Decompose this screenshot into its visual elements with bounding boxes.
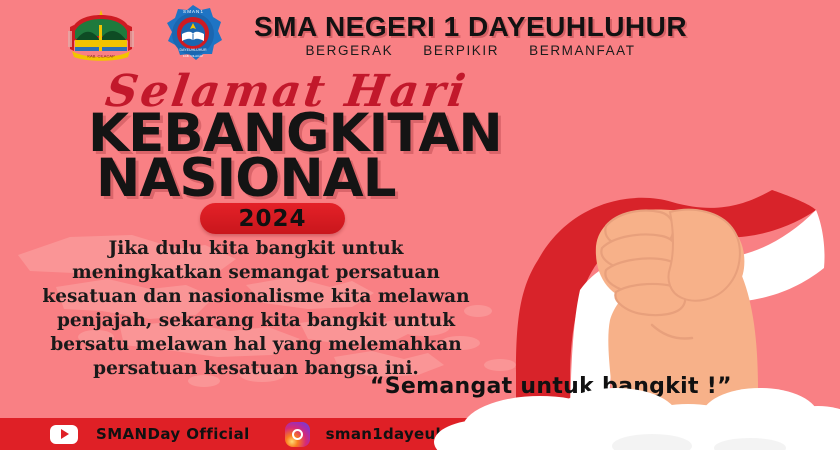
- year-label: 2024: [238, 206, 306, 232]
- tagline-word-1: BERGERAK: [305, 43, 393, 58]
- school-emblem: S M A N 1 DAYEUHLUHUR KAB. CILACAP: [162, 4, 224, 66]
- svg-text:S M A N 1: S M A N 1: [183, 9, 204, 14]
- svg-text:DAYEUHLUHUR: DAYEUHLUHUR: [179, 48, 206, 52]
- tagline-word-3: BERMANFAAT: [529, 43, 636, 58]
- year-badge: 2024: [200, 203, 345, 234]
- svg-text:KAB. CILACAP: KAB. CILACAP: [87, 54, 115, 59]
- headline-line-2: NASIONAL: [96, 148, 395, 209]
- youtube-icon[interactable]: [50, 425, 78, 444]
- youtube-handle[interactable]: SMANDay Official: [96, 425, 250, 443]
- poster-header: KAB. CILACAP S M A N 1 DAYEUHLUHUR KAB. …: [0, 4, 840, 66]
- school-identity: SMA NEGERI 1 DAYEUHLUHUR BERGERAKBERPIKI…: [254, 12, 687, 58]
- tagline-word-2: BERPIKIR: [423, 43, 499, 58]
- play-triangle-icon: [61, 429, 69, 439]
- poster-canvas: KAB. CILACAP S M A N 1 DAYEUHLUHUR KAB. …: [0, 0, 840, 450]
- svg-text:KAB. CILACAP: KAB. CILACAP: [183, 54, 204, 58]
- school-tagline: BERGERAKBERPIKIRBERMANFAAT: [254, 43, 687, 58]
- school-name: SMA NEGERI 1 DAYEUHLUHUR: [254, 12, 687, 41]
- regional-government-emblem: KAB. CILACAP: [62, 7, 140, 63]
- instagram-lens-icon: [292, 429, 303, 440]
- cloud-decoration: [420, 370, 840, 450]
- body-paragraph: Jika dulu kita bangkit untuk meningkatka…: [36, 237, 476, 381]
- instagram-icon[interactable]: [285, 422, 310, 447]
